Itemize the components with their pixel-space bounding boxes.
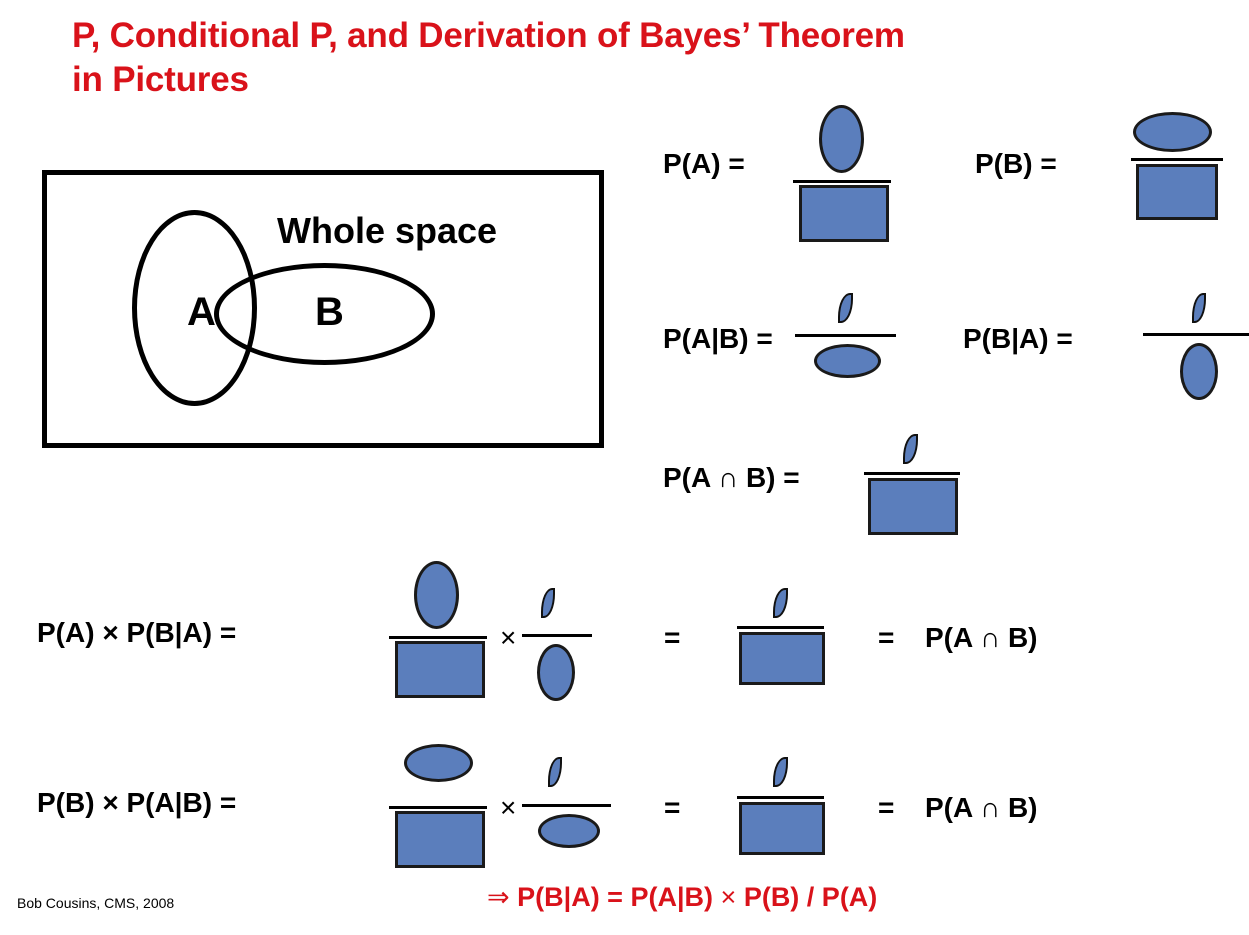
slide-canvas: P, Conditional P, and Derivation of Baye… bbox=[0, 0, 1249, 935]
shape-rectangle-denominator-pa bbox=[799, 185, 889, 242]
derivation-2-equals-2: = bbox=[878, 794, 894, 822]
derivation-1-result-numerator-lens bbox=[773, 588, 788, 618]
venn-label-b: B bbox=[315, 292, 344, 332]
fraction-bar-pagivenb bbox=[795, 334, 896, 337]
shape-ellipse-tall-numerator-pa bbox=[819, 105, 864, 173]
conclusion-times-symbol: × bbox=[721, 882, 737, 912]
title-line-2: in Pictures bbox=[72, 58, 1012, 102]
shape-rectangle-denominator-pacapb bbox=[868, 478, 958, 535]
formula-label-p-b-given-a: P(B|A) = bbox=[963, 325, 1073, 353]
derivation-1-equals-1: = bbox=[664, 624, 680, 652]
shape-lens-numerator-pacapb bbox=[903, 434, 918, 464]
derivation-1-term2-fraction-bar bbox=[522, 634, 592, 637]
derivation-2-label: P(B) × P(A|B) = bbox=[37, 789, 236, 817]
derivation-1-times-symbol: × bbox=[500, 624, 516, 652]
shape-ellipse-wide-denominator-pagivenb bbox=[814, 344, 881, 378]
derivation-1-term1-fraction-bar bbox=[389, 636, 487, 639]
derivation-2-term2-denominator-ellipse-wide bbox=[538, 814, 600, 848]
shape-rectangle-denominator-pb bbox=[1136, 164, 1218, 220]
formula-label-p-a: P(A) = bbox=[663, 150, 745, 178]
title-line-1: P, Conditional P, and Derivation of Baye… bbox=[72, 14, 1012, 58]
derivation-1-label: P(A) × P(B|A) = bbox=[37, 619, 236, 647]
fraction-bar-pbgivena bbox=[1143, 333, 1249, 336]
derivation-2-term1-denominator-rectangle bbox=[395, 811, 485, 868]
derivation-2-result-fraction-bar bbox=[737, 796, 824, 799]
derivation-2-term1-fraction-bar bbox=[389, 806, 487, 809]
derivation-2-term1-numerator-ellipse-wide bbox=[404, 744, 473, 782]
footer-credit: Bob Cousins, CMS, 2008 bbox=[17, 895, 174, 911]
derivation-2-result-numerator-lens bbox=[773, 757, 788, 787]
derivation-1-result-label: P(A ∩ B) bbox=[925, 624, 1038, 652]
conclusion-tail: P(B) / P(A) bbox=[744, 882, 877, 912]
venn-diagram-whole-space: A B Whole space bbox=[42, 170, 604, 448]
implies-arrow-icon: ⇒ bbox=[487, 882, 510, 912]
derivation-2-term2-numerator-lens bbox=[548, 757, 562, 787]
derivation-1-term1-denominator-rectangle bbox=[395, 641, 485, 698]
formula-label-p-b: P(B) = bbox=[975, 150, 1057, 178]
derivation-2-equals-1: = bbox=[664, 794, 680, 822]
derivation-1-term2-denominator-ellipse-tall bbox=[537, 644, 575, 701]
conclusion-formula: ⇒ P(B|A) = P(A|B) × P(B) / P(A) bbox=[487, 884, 877, 911]
derivation-1-result-fraction-bar bbox=[737, 626, 824, 629]
venn-label-whole-space: Whole space bbox=[277, 210, 497, 252]
shape-ellipse-wide-numerator-pb bbox=[1133, 112, 1212, 152]
derivation-2-result-label: P(A ∩ B) bbox=[925, 794, 1038, 822]
conclusion-main: P(B|A) = P(A|B) bbox=[517, 882, 713, 912]
derivation-2-times-symbol: × bbox=[500, 794, 516, 822]
page-title: P, Conditional P, and Derivation of Baye… bbox=[72, 14, 1012, 102]
shape-lens-numerator-pbgivena bbox=[1192, 293, 1206, 323]
derivation-1-equals-2: = bbox=[878, 624, 894, 652]
shape-lens-numerator-pagivenb bbox=[838, 293, 853, 323]
fraction-bar-pacapb bbox=[864, 472, 960, 475]
derivation-2-term2-fraction-bar bbox=[522, 804, 611, 807]
derivation-1-term1-numerator-ellipse-tall bbox=[414, 561, 459, 629]
shape-ellipse-tall-denominator-pbgivena bbox=[1180, 343, 1218, 400]
venn-label-a: A bbox=[187, 292, 216, 332]
derivation-1-result-denominator-rectangle bbox=[739, 632, 825, 685]
fraction-bar-pa bbox=[793, 180, 891, 183]
derivation-1-term2-numerator-lens bbox=[541, 588, 555, 618]
fraction-bar-pb bbox=[1131, 158, 1223, 161]
formula-label-p-a-given-b: P(A|B) = bbox=[663, 325, 773, 353]
derivation-2-result-denominator-rectangle bbox=[739, 802, 825, 855]
formula-label-p-a-cap-b: P(A ∩ B) = bbox=[663, 464, 800, 492]
